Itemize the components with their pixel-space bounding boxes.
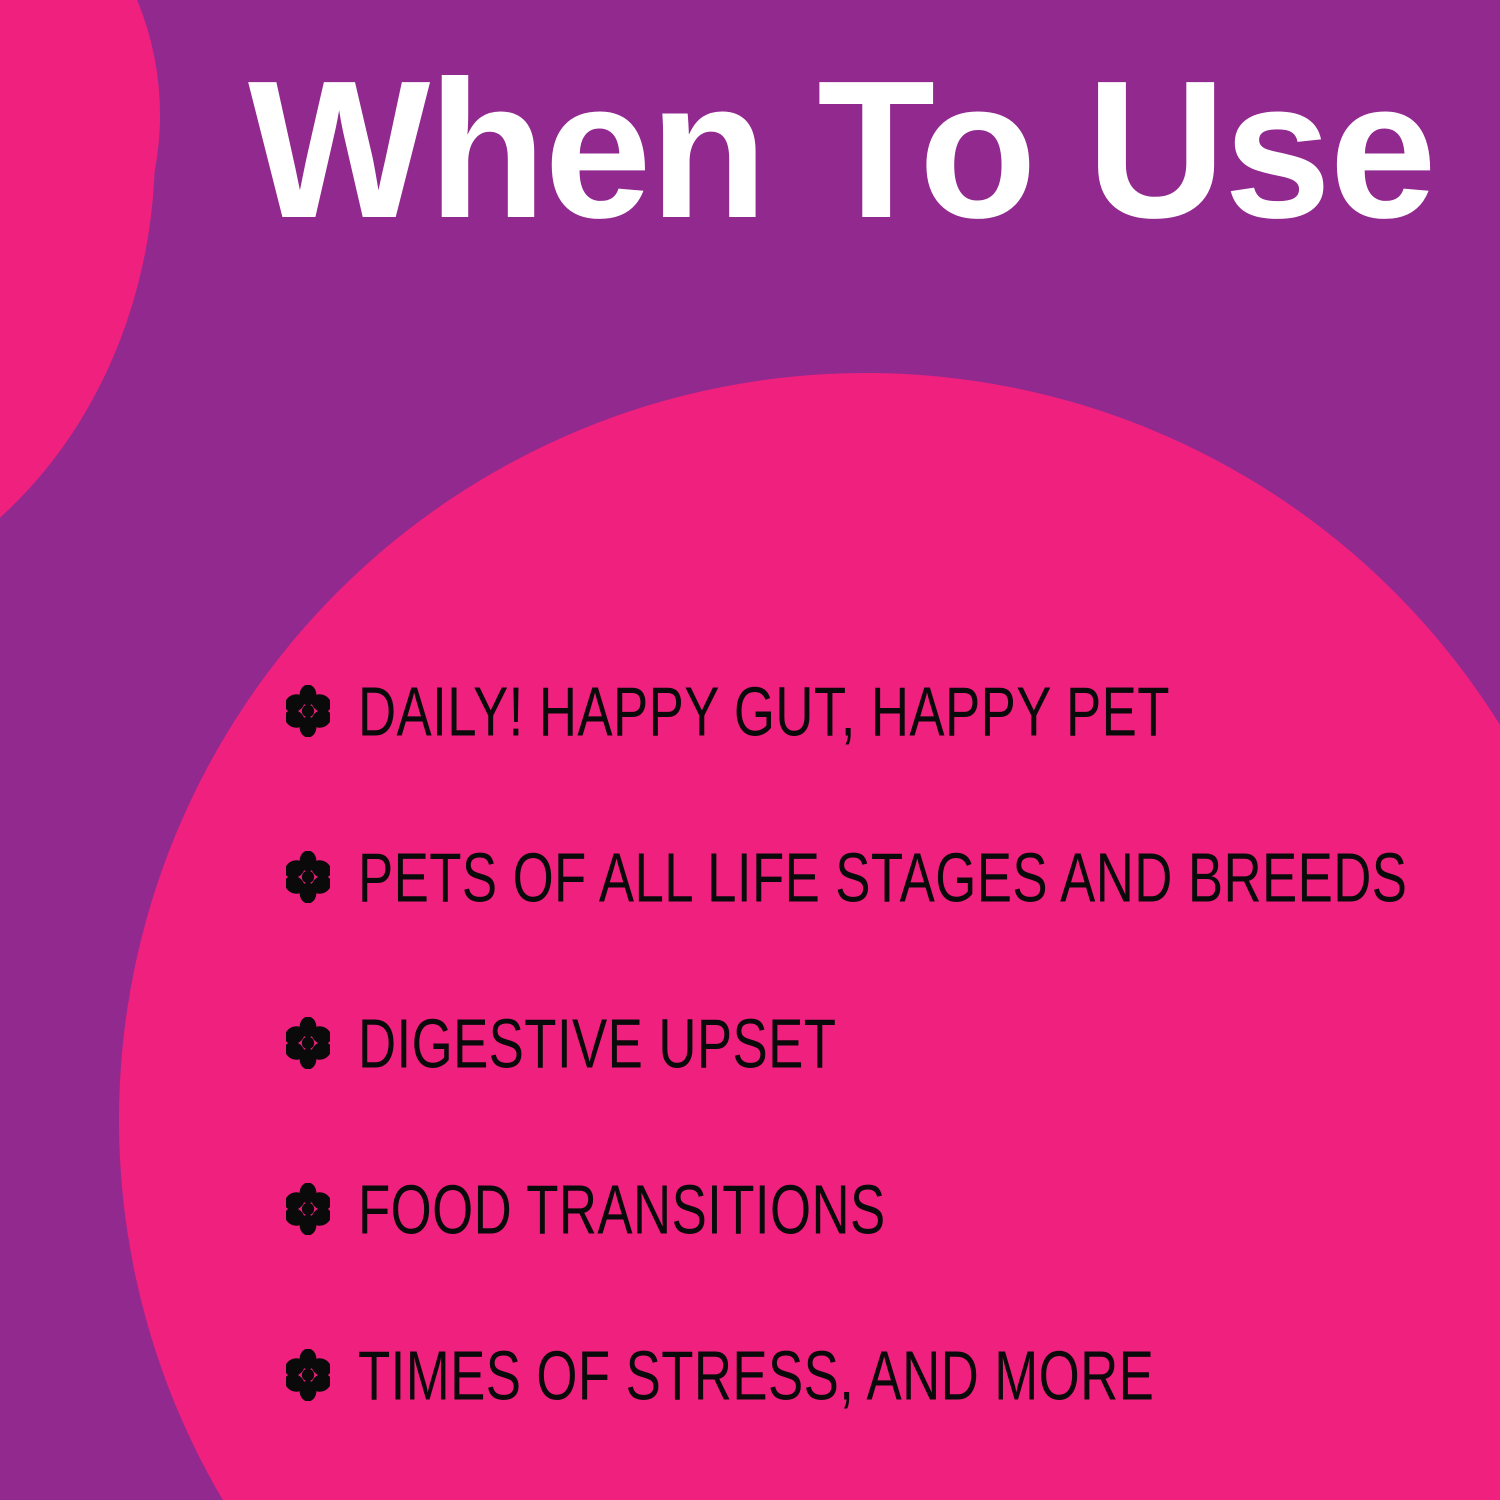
flower-asterisk-icon: [286, 1349, 330, 1401]
list-item-label: PETS OF ALL LIFE STAGES AND BREEDS: [358, 840, 1407, 914]
list-item-label: DIGESTIVE UPSET: [358, 1006, 1228, 1080]
poster-content: When To Use DAILY! HAPPY GUT, HAPPY PET: [0, 0, 1500, 1500]
list-item: DIGESTIVE UPSET: [286, 1004, 1446, 1082]
flower-asterisk-icon: [286, 1017, 330, 1069]
page-title: When To Use: [248, 55, 1440, 245]
list-item-label: FOOD TRANSITIONS: [358, 1172, 1228, 1246]
list-item: DAILY! HAPPY GUT, HAPPY PET: [286, 672, 1446, 750]
list-item-label: TIMES OF STRESS, AND MORE: [358, 1338, 1228, 1412]
list-item: FOOD TRANSITIONS: [286, 1170, 1446, 1248]
list-item: TIMES OF STRESS, AND MORE: [286, 1336, 1446, 1414]
when-to-use-poster: When To Use DAILY! HAPPY GUT, HAPPY PET: [0, 0, 1500, 1500]
flower-asterisk-icon: [286, 1183, 330, 1235]
list-item-label: DAILY! HAPPY GUT, HAPPY PET: [358, 674, 1228, 748]
flower-asterisk-icon: [286, 851, 330, 903]
list-item: PETS OF ALL LIFE STAGES AND BREEDS: [286, 838, 1446, 916]
flower-asterisk-icon: [286, 685, 330, 737]
benefits-list: DAILY! HAPPY GUT, HAPPY PET PETS OF ALL …: [286, 672, 1446, 1414]
